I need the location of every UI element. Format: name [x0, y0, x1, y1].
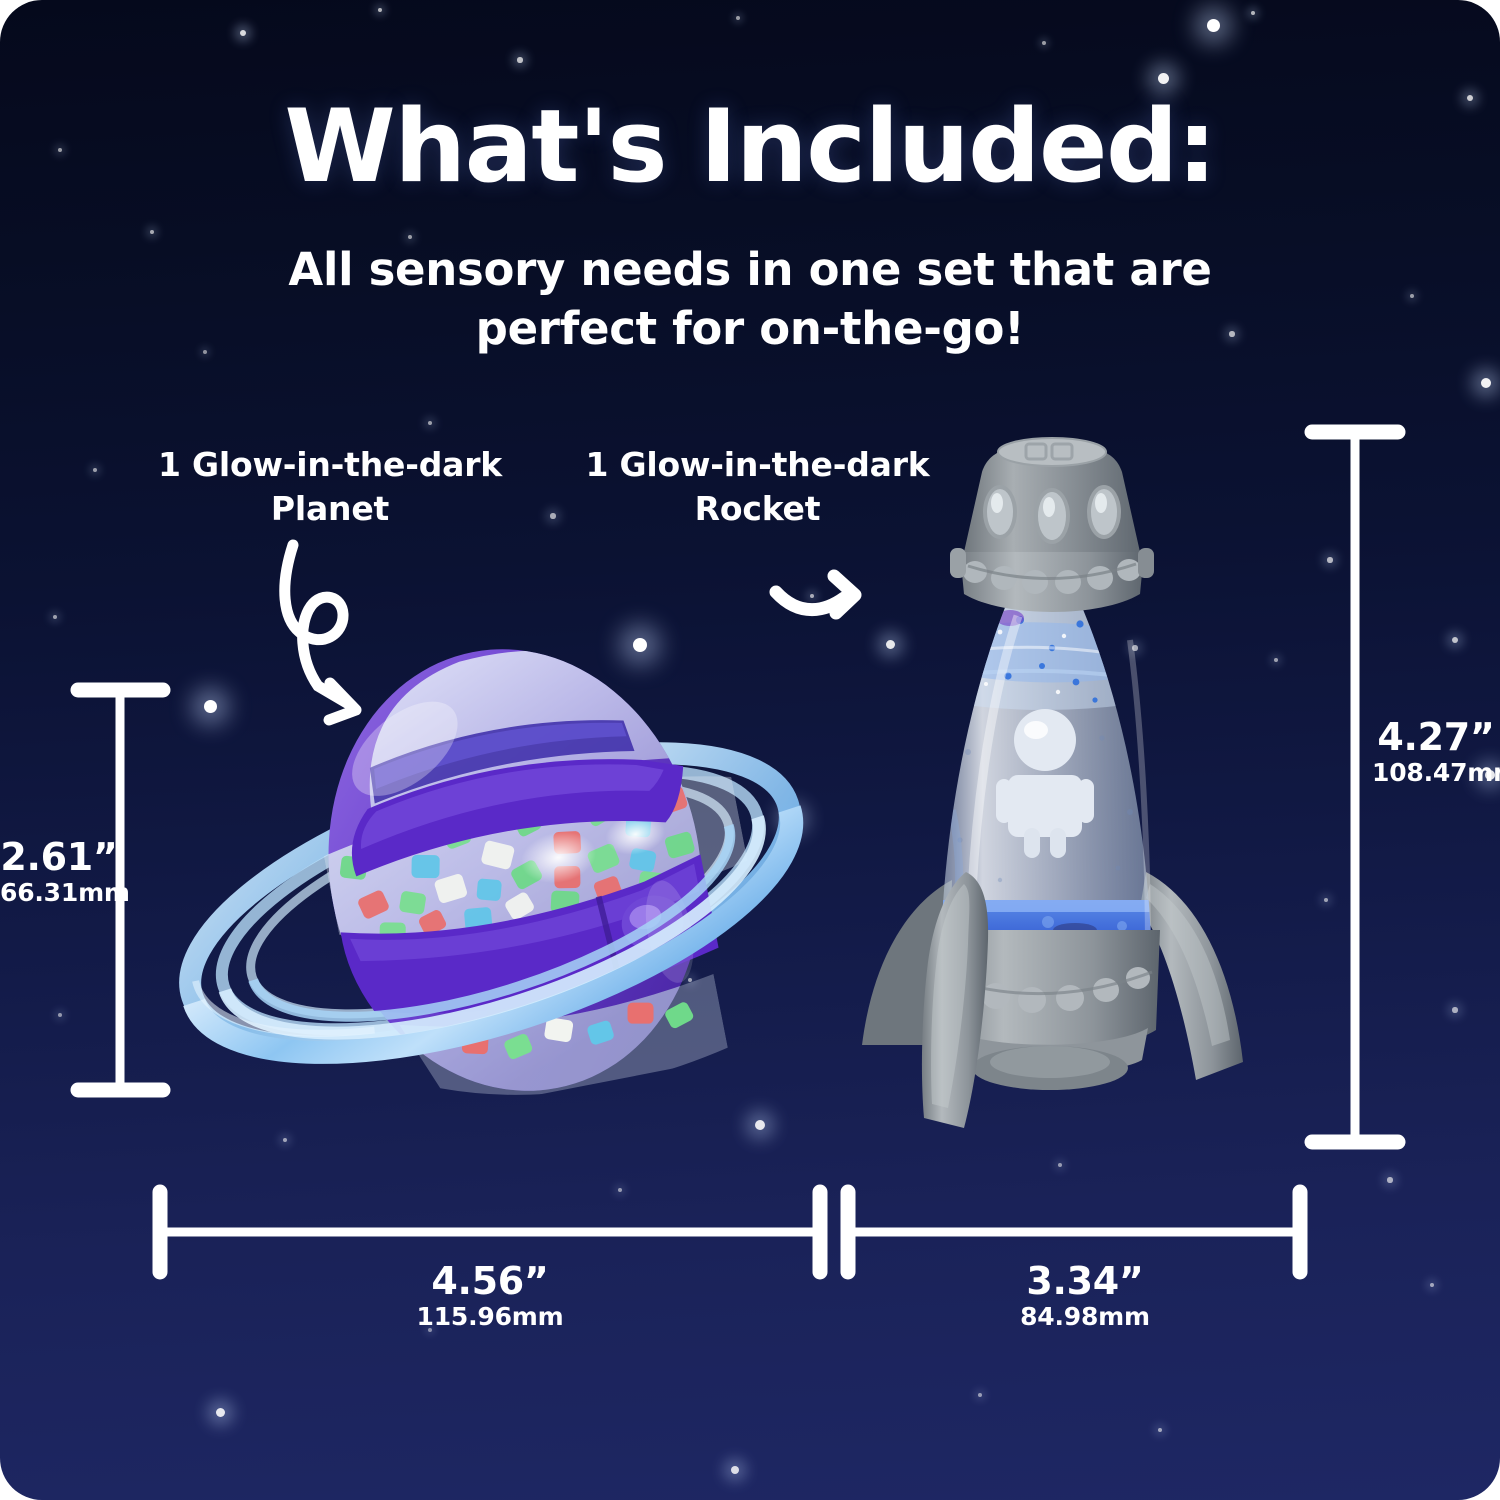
dimension-lines-layer — [0, 0, 1500, 1500]
dimension-label-rocket-height: 4.27” 108.47mm — [1372, 718, 1500, 788]
planet-height-mm: 66.31mm — [0, 878, 118, 908]
planet-width-inches: 4.56” — [340, 1262, 640, 1302]
planet-width-mm: 115.96mm — [340, 1302, 640, 1332]
rocket-width-inches: 3.34” — [935, 1262, 1235, 1302]
rocket-width-mm: 84.98mm — [935, 1302, 1235, 1332]
dimension-label-planet-width: 4.56” 115.96mm — [340, 1262, 640, 1332]
planet-height-inches: 2.61” — [0, 838, 118, 878]
dimension-label-planet-height: 2.61” 66.31mm — [0, 838, 118, 908]
infographic-canvas: What's Included: All sensory needs in on… — [0, 0, 1500, 1500]
rocket-height-mm: 108.47mm — [1372, 758, 1500, 788]
rocket-height-inches: 4.27” — [1372, 718, 1500, 758]
dimension-label-rocket-width: 3.34” 84.98mm — [935, 1262, 1235, 1332]
